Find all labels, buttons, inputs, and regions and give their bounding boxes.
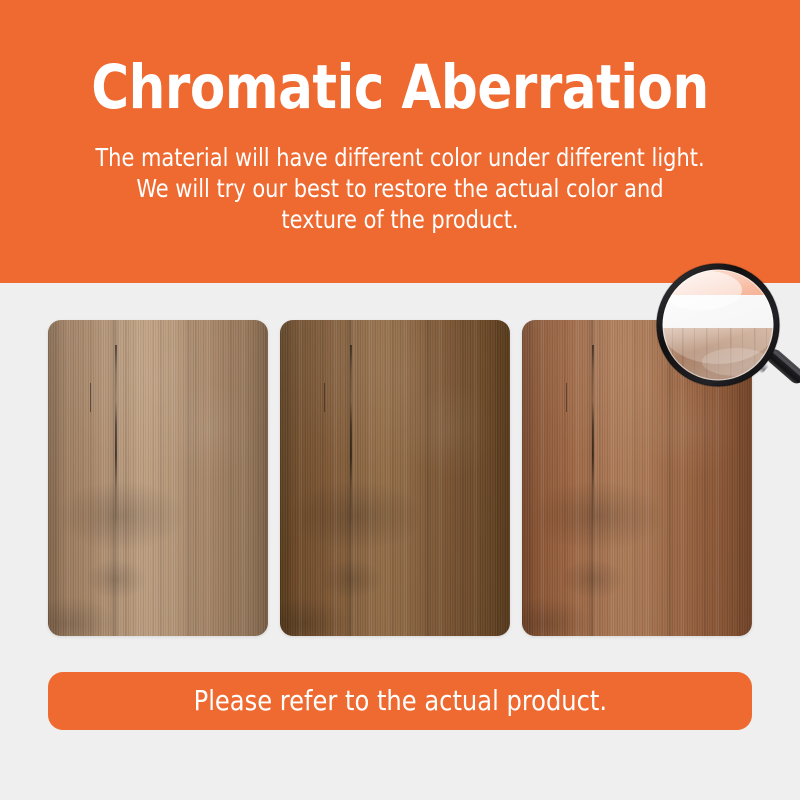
swatch-dark-walnut[interactable] [280,320,510,636]
call-to-action-banner[interactable]: Please refer to the actual product. [48,672,752,730]
wood-texture [522,320,752,636]
swatch-light-oak[interactable] [48,320,268,636]
banner-label: Please refer to the actual product. [193,685,606,717]
wood-swatch-row [48,320,752,636]
wood-texture [48,320,268,636]
magnifier-handle [750,346,800,386]
header-band: Chromatic Aberration The material will h… [0,0,800,283]
subtitle-line-2: We will try our best to restore the actu… [68,173,733,204]
wood-texture [280,320,510,636]
chromatic-aberration-poster: Chromatic Aberration The material will h… [0,0,800,800]
wood-sheen [280,320,510,636]
subtitle-block: The material will have different color u… [68,142,733,235]
wood-sheen [522,320,752,636]
subtitle-line-1: The material will have different color u… [68,142,733,173]
swatch-red-walnut[interactable] [522,320,752,636]
subtitle-line-3: texture of the product. [68,204,733,235]
wood-sheen [48,320,268,636]
page-title: Chromatic Aberration [24,52,776,124]
